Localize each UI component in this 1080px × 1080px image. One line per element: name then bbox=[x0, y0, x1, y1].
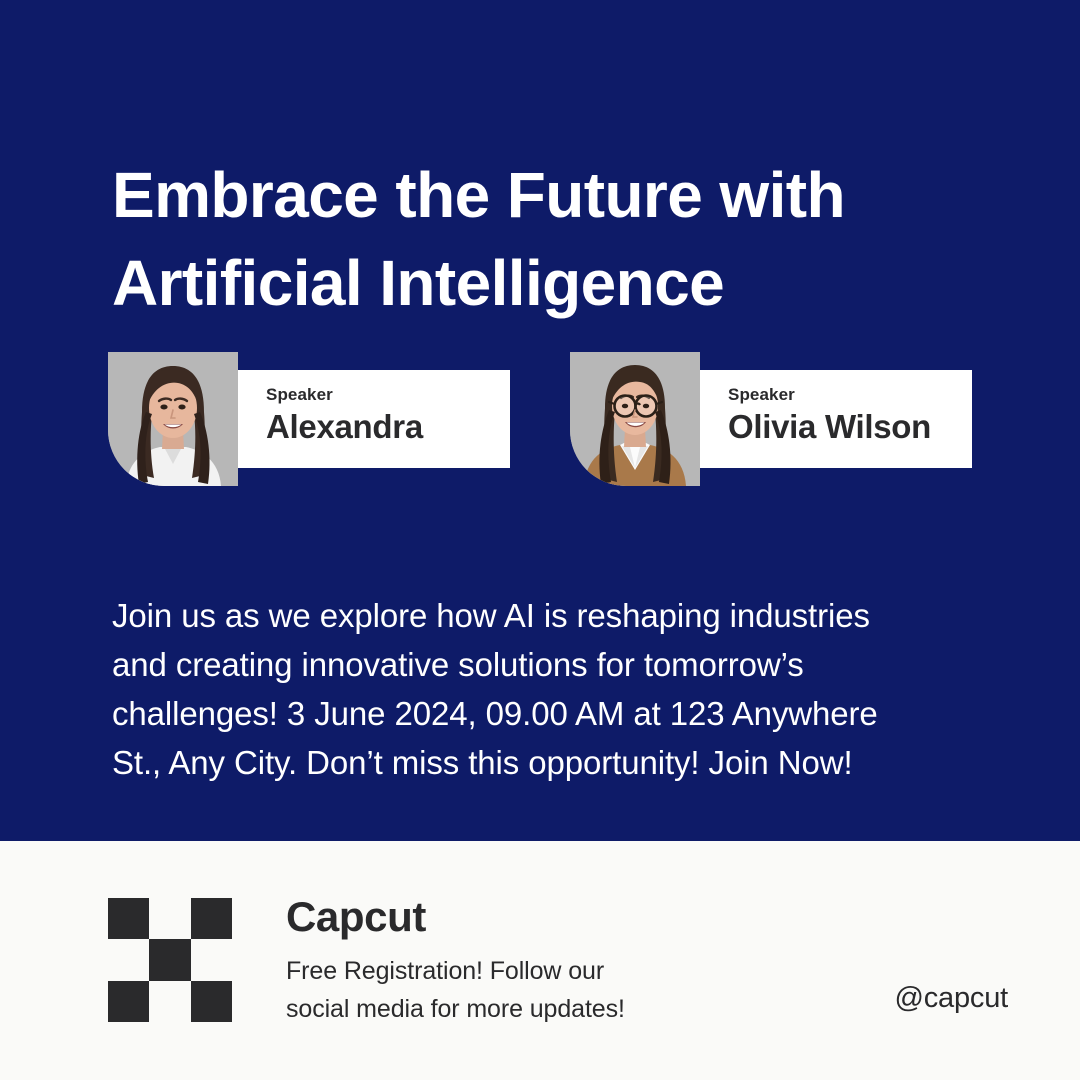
event-description: Join us as we explore how AI is reshapin… bbox=[112, 591, 992, 787]
checkerboard-logo-icon bbox=[108, 898, 232, 1022]
speaker-portrait-olivia-icon bbox=[570, 352, 700, 486]
speaker-list: Speaker Alexandra bbox=[108, 352, 988, 488]
brand-tagline-line-1: Free Registration! Follow our bbox=[286, 952, 625, 990]
logo-cell-3 bbox=[191, 898, 232, 939]
hero-section: Embrace the Future with Artificial Intel… bbox=[0, 0, 1080, 841]
speaker-name: Olivia Wilson bbox=[728, 408, 931, 446]
event-description-line-1: Join us as we explore how AI is reshapin… bbox=[112, 591, 992, 640]
brand-tagline: Free Registration! Follow our social med… bbox=[286, 952, 625, 1028]
speaker-nameplate-olivia-wilson: Speaker Olivia Wilson bbox=[700, 370, 972, 468]
event-description-line-3: challenges! 3 June 2024, 09.00 AM at 123… bbox=[112, 689, 992, 738]
speaker-name: Alexandra bbox=[266, 408, 423, 446]
speaker-card-olivia-wilson[interactable]: Speaker Olivia Wilson bbox=[570, 352, 972, 488]
logo-cell-7 bbox=[108, 981, 149, 1022]
logo-cell-4 bbox=[108, 939, 149, 980]
speaker-nameplate-alexandra: Speaker Alexandra bbox=[238, 370, 510, 468]
brand-tagline-line-2: social media for more updates! bbox=[286, 990, 625, 1028]
logo-cell-1 bbox=[108, 898, 149, 939]
page-title: Embrace the Future with Artificial Intel… bbox=[112, 151, 1012, 327]
page-title-line-1: Embrace the Future with bbox=[112, 151, 1012, 239]
poster-canvas: Embrace the Future with Artificial Intel… bbox=[0, 0, 1080, 1080]
logo-cell-5 bbox=[149, 939, 190, 980]
speaker-role-label: Speaker bbox=[266, 385, 333, 405]
logo-cell-9 bbox=[191, 981, 232, 1022]
speaker-card-alexandra[interactable]: Speaker Alexandra bbox=[108, 352, 510, 488]
speaker-portrait-alexandra-icon bbox=[108, 352, 238, 486]
logo-cell-8 bbox=[149, 981, 190, 1022]
speaker-role-label: Speaker bbox=[728, 385, 795, 405]
event-description-line-2: and creating innovative solutions for to… bbox=[112, 640, 992, 689]
footer-section: Capcut Free Registration! Follow our soc… bbox=[0, 841, 1080, 1080]
logo-cell-6 bbox=[191, 939, 232, 980]
event-description-line-4: St., Any City. Don’t miss this opportuni… bbox=[112, 738, 992, 787]
page-title-line-2: Artificial Intelligence bbox=[112, 239, 1012, 327]
logo-cell-2 bbox=[149, 898, 190, 939]
social-handle[interactable]: @capcut bbox=[895, 982, 1008, 1015]
brand-name: Capcut bbox=[286, 893, 426, 941]
